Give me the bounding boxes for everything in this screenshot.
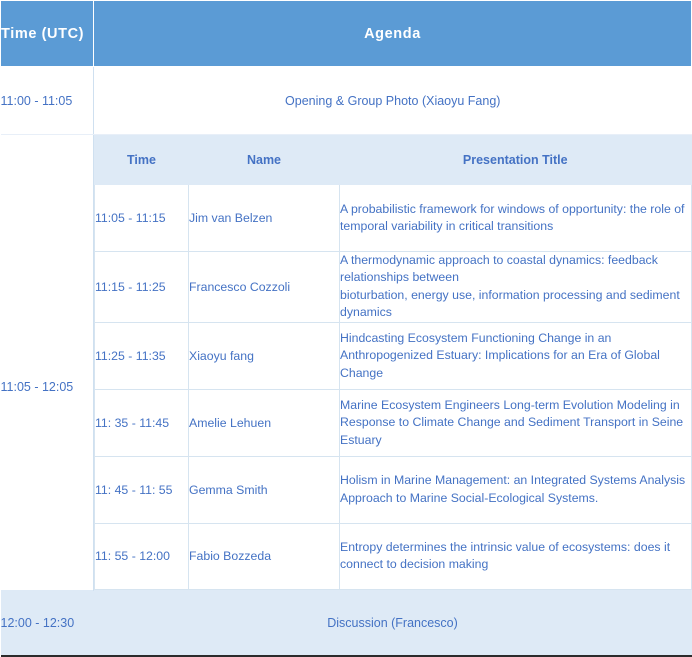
agenda-table-head: Time (UTC) Agenda [1, 1, 692, 67]
session-time: 11: 45 - 11: 55 [95, 456, 189, 523]
discussion-time: 12:00 - 12:30 [1, 590, 94, 656]
session-time: 11:25 - 11:35 [95, 322, 189, 389]
table-row: 11:25 - 11:35 Xiaoyu fang Hindcasting Ec… [95, 322, 692, 389]
table-row: 11: 35 - 11:45 Amelie Lehuen Marine Ecos… [95, 389, 692, 456]
discussion-row: 12:00 - 12:30 Discussion (Francesco) [1, 590, 692, 656]
session-title-line-2: bioturbation, energy use, information pr… [340, 288, 680, 319]
opening-time: 11:00 - 11:05 [1, 67, 94, 135]
sessions-table-body: 11:05 - 11:15 Jim van Belzen A probabili… [95, 185, 692, 590]
sessions-host-cell: Time Name Presentation Title 11:05 - 11:… [94, 135, 692, 591]
discussion-text: Discussion (Francesco) [94, 590, 692, 656]
sessions-col-time: Time [95, 136, 189, 185]
session-name: Francesco Cozzoli [189, 252, 340, 323]
session-name: Jim van Belzen [189, 185, 340, 252]
main-header-row: Time (UTC) Agenda [1, 1, 692, 67]
session-time: 11: 55 - 12:00 [95, 523, 189, 589]
header-time-utc: Time (UTC) [1, 1, 94, 67]
table-row: 11:15 - 11:25 Francesco Cozzoli A thermo… [95, 252, 692, 323]
agenda-table-body: 11:00 - 11:05 Opening & Group Photo (Xia… [1, 67, 692, 657]
session-name: Xiaoyu fang [189, 322, 340, 389]
session-name: Gemma Smith [189, 456, 340, 523]
sessions-col-title: Presentation Title [340, 136, 692, 185]
session-name: Amelie Lehuen [189, 389, 340, 456]
table-row: 11: 55 - 12:00 Fabio Bozzeda Entropy det… [95, 523, 692, 589]
session-time: 11:15 - 11:25 [95, 252, 189, 323]
session-title: Marine Ecosystem Engineers Long-term Evo… [340, 389, 692, 456]
session-title: Holism in Marine Management: an Integrat… [340, 456, 692, 523]
session-time: 11:05 - 11:15 [95, 185, 189, 252]
subheader-spacer-cell [1, 135, 94, 185]
opening-row: 11:00 - 11:05 Opening & Group Photo (Xia… [1, 67, 692, 135]
session-title-line-1: A thermodynamic approach to coastal dyna… [340, 253, 658, 284]
session-name: Fabio Bozzeda [189, 523, 340, 589]
session-time: 11: 35 - 11:45 [95, 389, 189, 456]
session-title: Hindcasting Ecosystem Functioning Change… [340, 322, 692, 389]
table-row: 11: 45 - 11: 55 Gemma Smith Holism in Ma… [95, 456, 692, 523]
session-title: A probabilistic framework for windows of… [340, 185, 692, 252]
agenda-table: Time (UTC) Agenda 11:00 - 11:05 Opening … [0, 0, 692, 657]
opening-text: Opening & Group Photo (Xiaoyu Fang) [94, 67, 692, 135]
sessions-time-span: 11:05 - 12:05 [1, 185, 94, 591]
header-agenda: Agenda [94, 1, 692, 67]
table-row: 11:05 - 11:15 Jim van Belzen A probabili… [95, 185, 692, 252]
sessions-table-head: Time Name Presentation Title [95, 136, 692, 185]
sessions-table: Time Name Presentation Title 11:05 - 11:… [94, 135, 692, 590]
session-title: A thermodynamic approach to coastal dyna… [340, 252, 692, 323]
sessions-col-name: Name [189, 136, 340, 185]
sessions-header-row: Time Name Presentation Title [95, 136, 692, 185]
session-title: Entropy determines the intrinsic value o… [340, 523, 692, 589]
subheader-spacer-row: Time Name Presentation Title 11:05 - 11:… [1, 135, 692, 185]
